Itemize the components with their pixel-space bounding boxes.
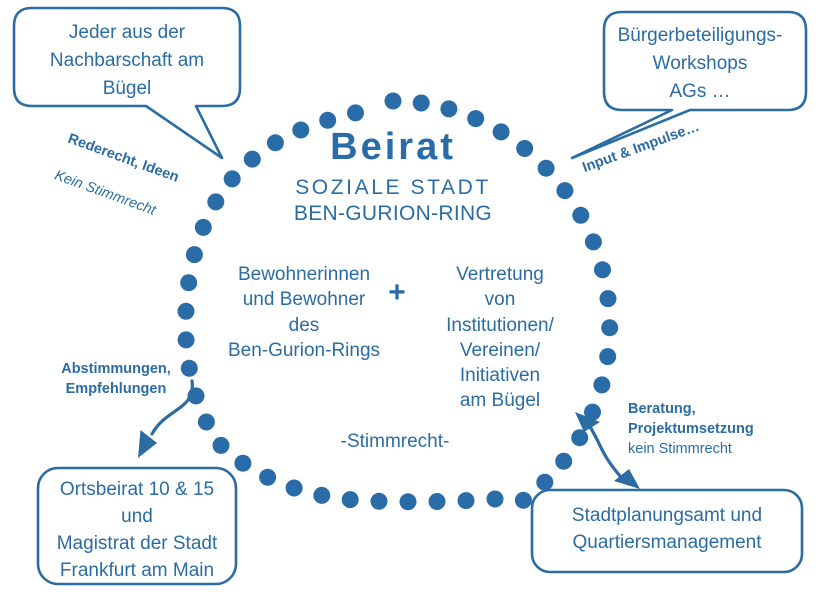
callout-stadtplanung-label: Stadtplanungsamt und Quartiersmanagement: [538, 503, 796, 557]
voting-rights-note: -Stimmrecht-: [300, 430, 490, 454]
connector-label-beratung-sub: kein Stimmrecht: [628, 441, 808, 457]
callout-ortsbeirat-label: Ortsbeirat 10 & 15 und Magistrat der Sta…: [44, 477, 230, 585]
members-institutions: Vertretung von Institutionen/ Vereinen/ …: [420, 262, 580, 414]
connector-label-beratung: Beratung, Projektumsetzung: [628, 400, 808, 439]
plus-icon: +: [384, 278, 410, 308]
connector-label-abstimmungen: Abstimmungen, Empfehlungen: [36, 360, 196, 399]
page-title: Beirat: [243, 128, 543, 166]
members-residents: Bewohnerinnen und Bewohner des Ben-Gurio…: [215, 262, 393, 363]
subtitle-soziale-stadt: SOZIALE STADT: [243, 176, 543, 200]
callout-nachbarschaft-label: Jeder aus der Nachbarschaft am Bügel: [24, 19, 230, 103]
callout-workshops-label: Bürgerbeteiligungs- Workshops AGs …: [600, 22, 800, 106]
diagram-canvas: .bubble { fill: #ffffff; stroke: #2B6CA3…: [0, 0, 820, 600]
subtitle-ben-gurion-ring: BEN-GURION-RING: [243, 202, 543, 226]
